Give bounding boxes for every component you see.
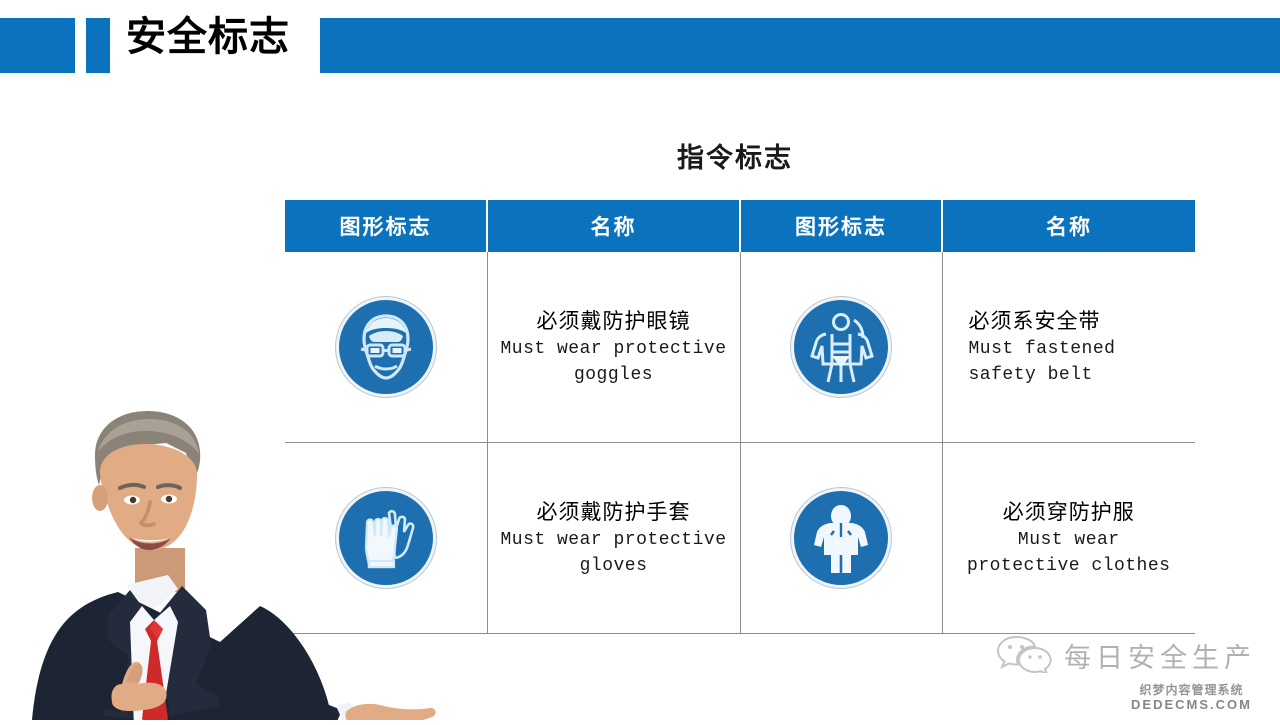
table-row: 必须戴防护手套 Must wear protective gloves [285, 443, 1195, 634]
header-accent-block-narrow [86, 18, 110, 73]
sign-name-en-line1: Must fastened [951, 336, 1188, 362]
sign-name-en-line2: protective clothes [951, 553, 1188, 579]
sign-name-en-line2: gloves [496, 553, 732, 579]
sign-name-zh: 必须系安全带 [951, 306, 1188, 336]
safety-belt-sign-icon [791, 297, 891, 397]
sign-name-cell: 必须系安全带 Must fastened safety belt [942, 252, 1195, 443]
wechat-watermark: 每日安全生产 [996, 633, 1256, 678]
sign-name-cell: 必须穿防护服 Must wear protective clothes [942, 443, 1195, 634]
dedecms-label-en: DEDECMS.COM [1131, 697, 1252, 712]
mandatory-signs-table: 图形标志 名称 图形标志 名称 [285, 200, 1195, 634]
sign-icon-cell [285, 443, 487, 634]
sign-name-cell: 必须戴防护手套 Must wear protective gloves [487, 443, 740, 634]
sign-name-en-line1: Must wear protective [496, 336, 732, 362]
protective-clothes-sign-icon [791, 488, 891, 588]
column-header-symbol-1: 图形标志 [285, 200, 487, 252]
sign-icon-cell [285, 252, 487, 443]
table-header-row: 图形标志 名称 图形标志 名称 [285, 200, 1195, 252]
wechat-icon [996, 633, 1052, 678]
sign-name-en-line2: goggles [496, 362, 732, 388]
goggles-sign-icon [336, 297, 436, 397]
gloves-sign-icon [336, 488, 436, 588]
sign-name-en-line1: Must wear [951, 527, 1188, 553]
header-accent-block-main [320, 18, 1280, 73]
wechat-label: 每日安全生产 [1064, 636, 1256, 675]
section-title: 指令标志 [0, 136, 1280, 175]
column-header-name-2: 名称 [942, 200, 1195, 252]
table-row: 必须戴防护眼镜 Must wear protective goggles [285, 252, 1195, 443]
dedecms-watermark: 织梦内容管理系统 DEDECMS.COM [1131, 683, 1252, 712]
sign-icon-cell [740, 443, 942, 634]
section-title-text: 指令标志 [677, 136, 793, 175]
page-title: 安全标志 [126, 14, 302, 60]
column-header-symbol-2: 图形标志 [740, 200, 942, 252]
sign-name-cell: 必须戴防护眼镜 Must wear protective goggles [487, 252, 740, 443]
sign-name-en-line2: safety belt [951, 362, 1188, 388]
dedecms-label-cn: 织梦内容管理系统 [1131, 683, 1252, 697]
header-accent-block-wide [0, 18, 75, 73]
column-header-name-1: 名称 [487, 200, 740, 252]
sign-name-en-line1: Must wear protective [496, 527, 732, 553]
sign-name-zh: 必须穿防护服 [951, 497, 1188, 527]
sign-name-zh: 必须戴防护手套 [496, 497, 732, 527]
sign-icon-cell [740, 252, 942, 443]
sign-name-zh: 必须戴防护眼镜 [496, 306, 732, 336]
